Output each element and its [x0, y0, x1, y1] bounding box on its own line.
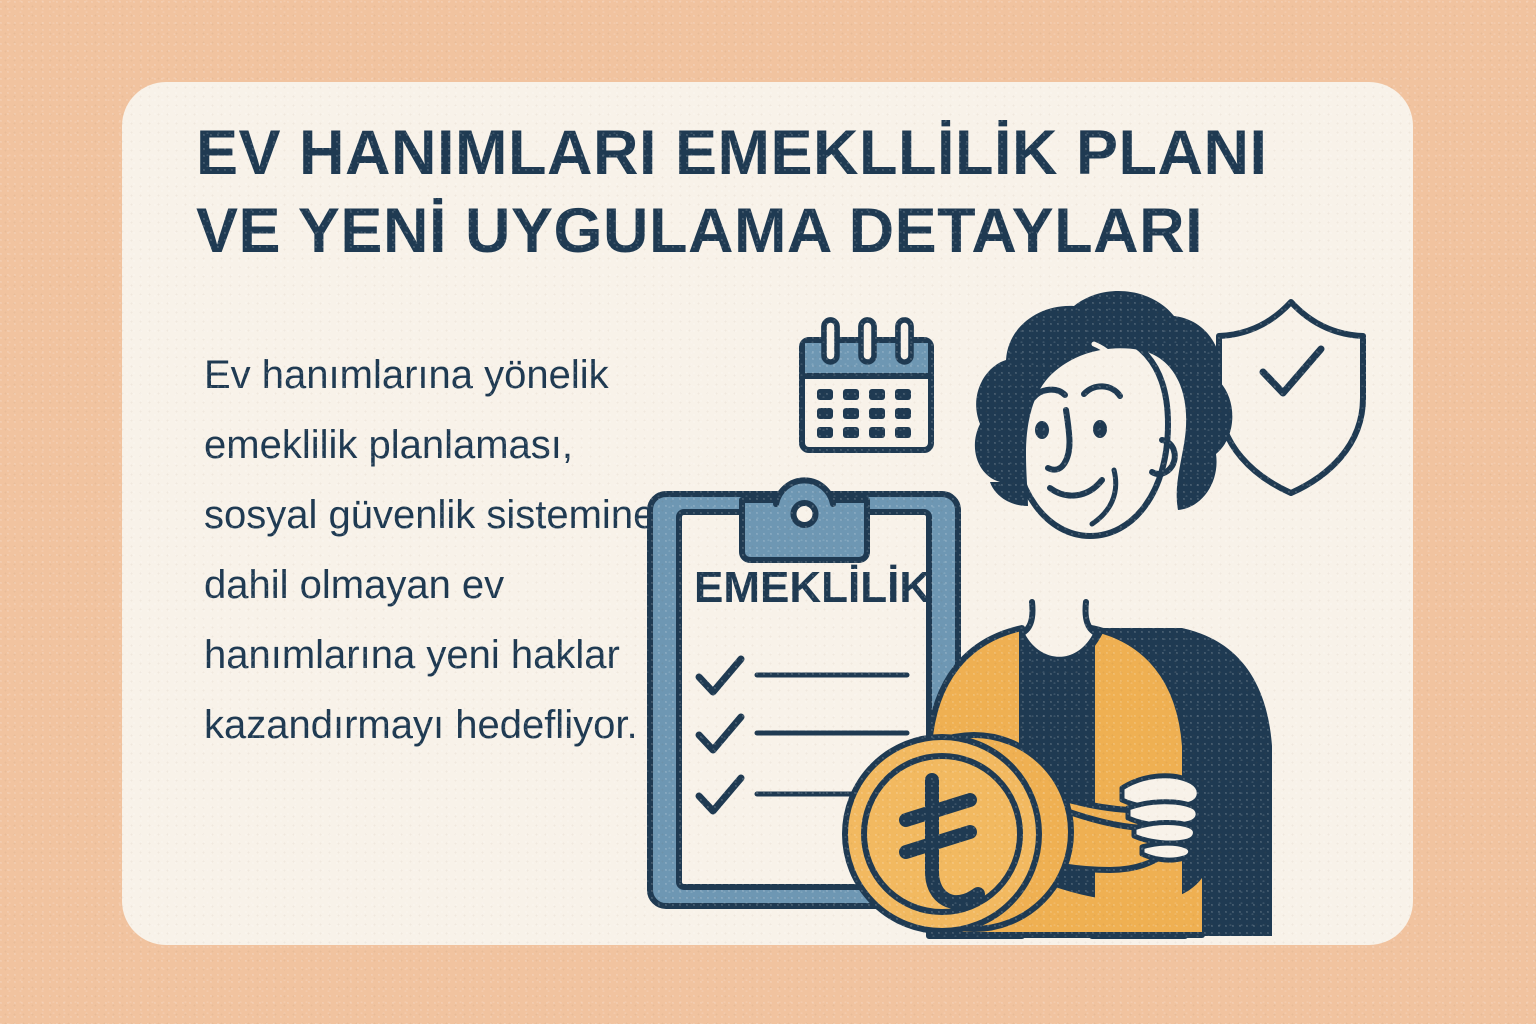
illustration: EMEKLİLİK: [622, 272, 1412, 945]
title-line-1: EV HANIMLARI EMEKLLİLİK PLANI: [196, 114, 1336, 192]
clipboard-heading: EMEKLİLİK: [694, 563, 931, 612]
calendar-icon: [802, 320, 931, 450]
coin-turkish-lira: [845, 735, 1071, 931]
page-title: EV HANIMLARI EMEKLLİLİK PLANI VE YENİ UY…: [196, 114, 1336, 270]
title-line-2: VE YENİ UYGULAMA DETAYLARI: [196, 192, 1336, 270]
info-card: EV HANIMLARI EMEKLLİLİK PLANI VE YENİ UY…: [122, 82, 1413, 945]
shield-check-icon: [1219, 302, 1363, 493]
body-paragraph: Ev hanımlarına yönelik emeklilik planlam…: [204, 340, 674, 760]
